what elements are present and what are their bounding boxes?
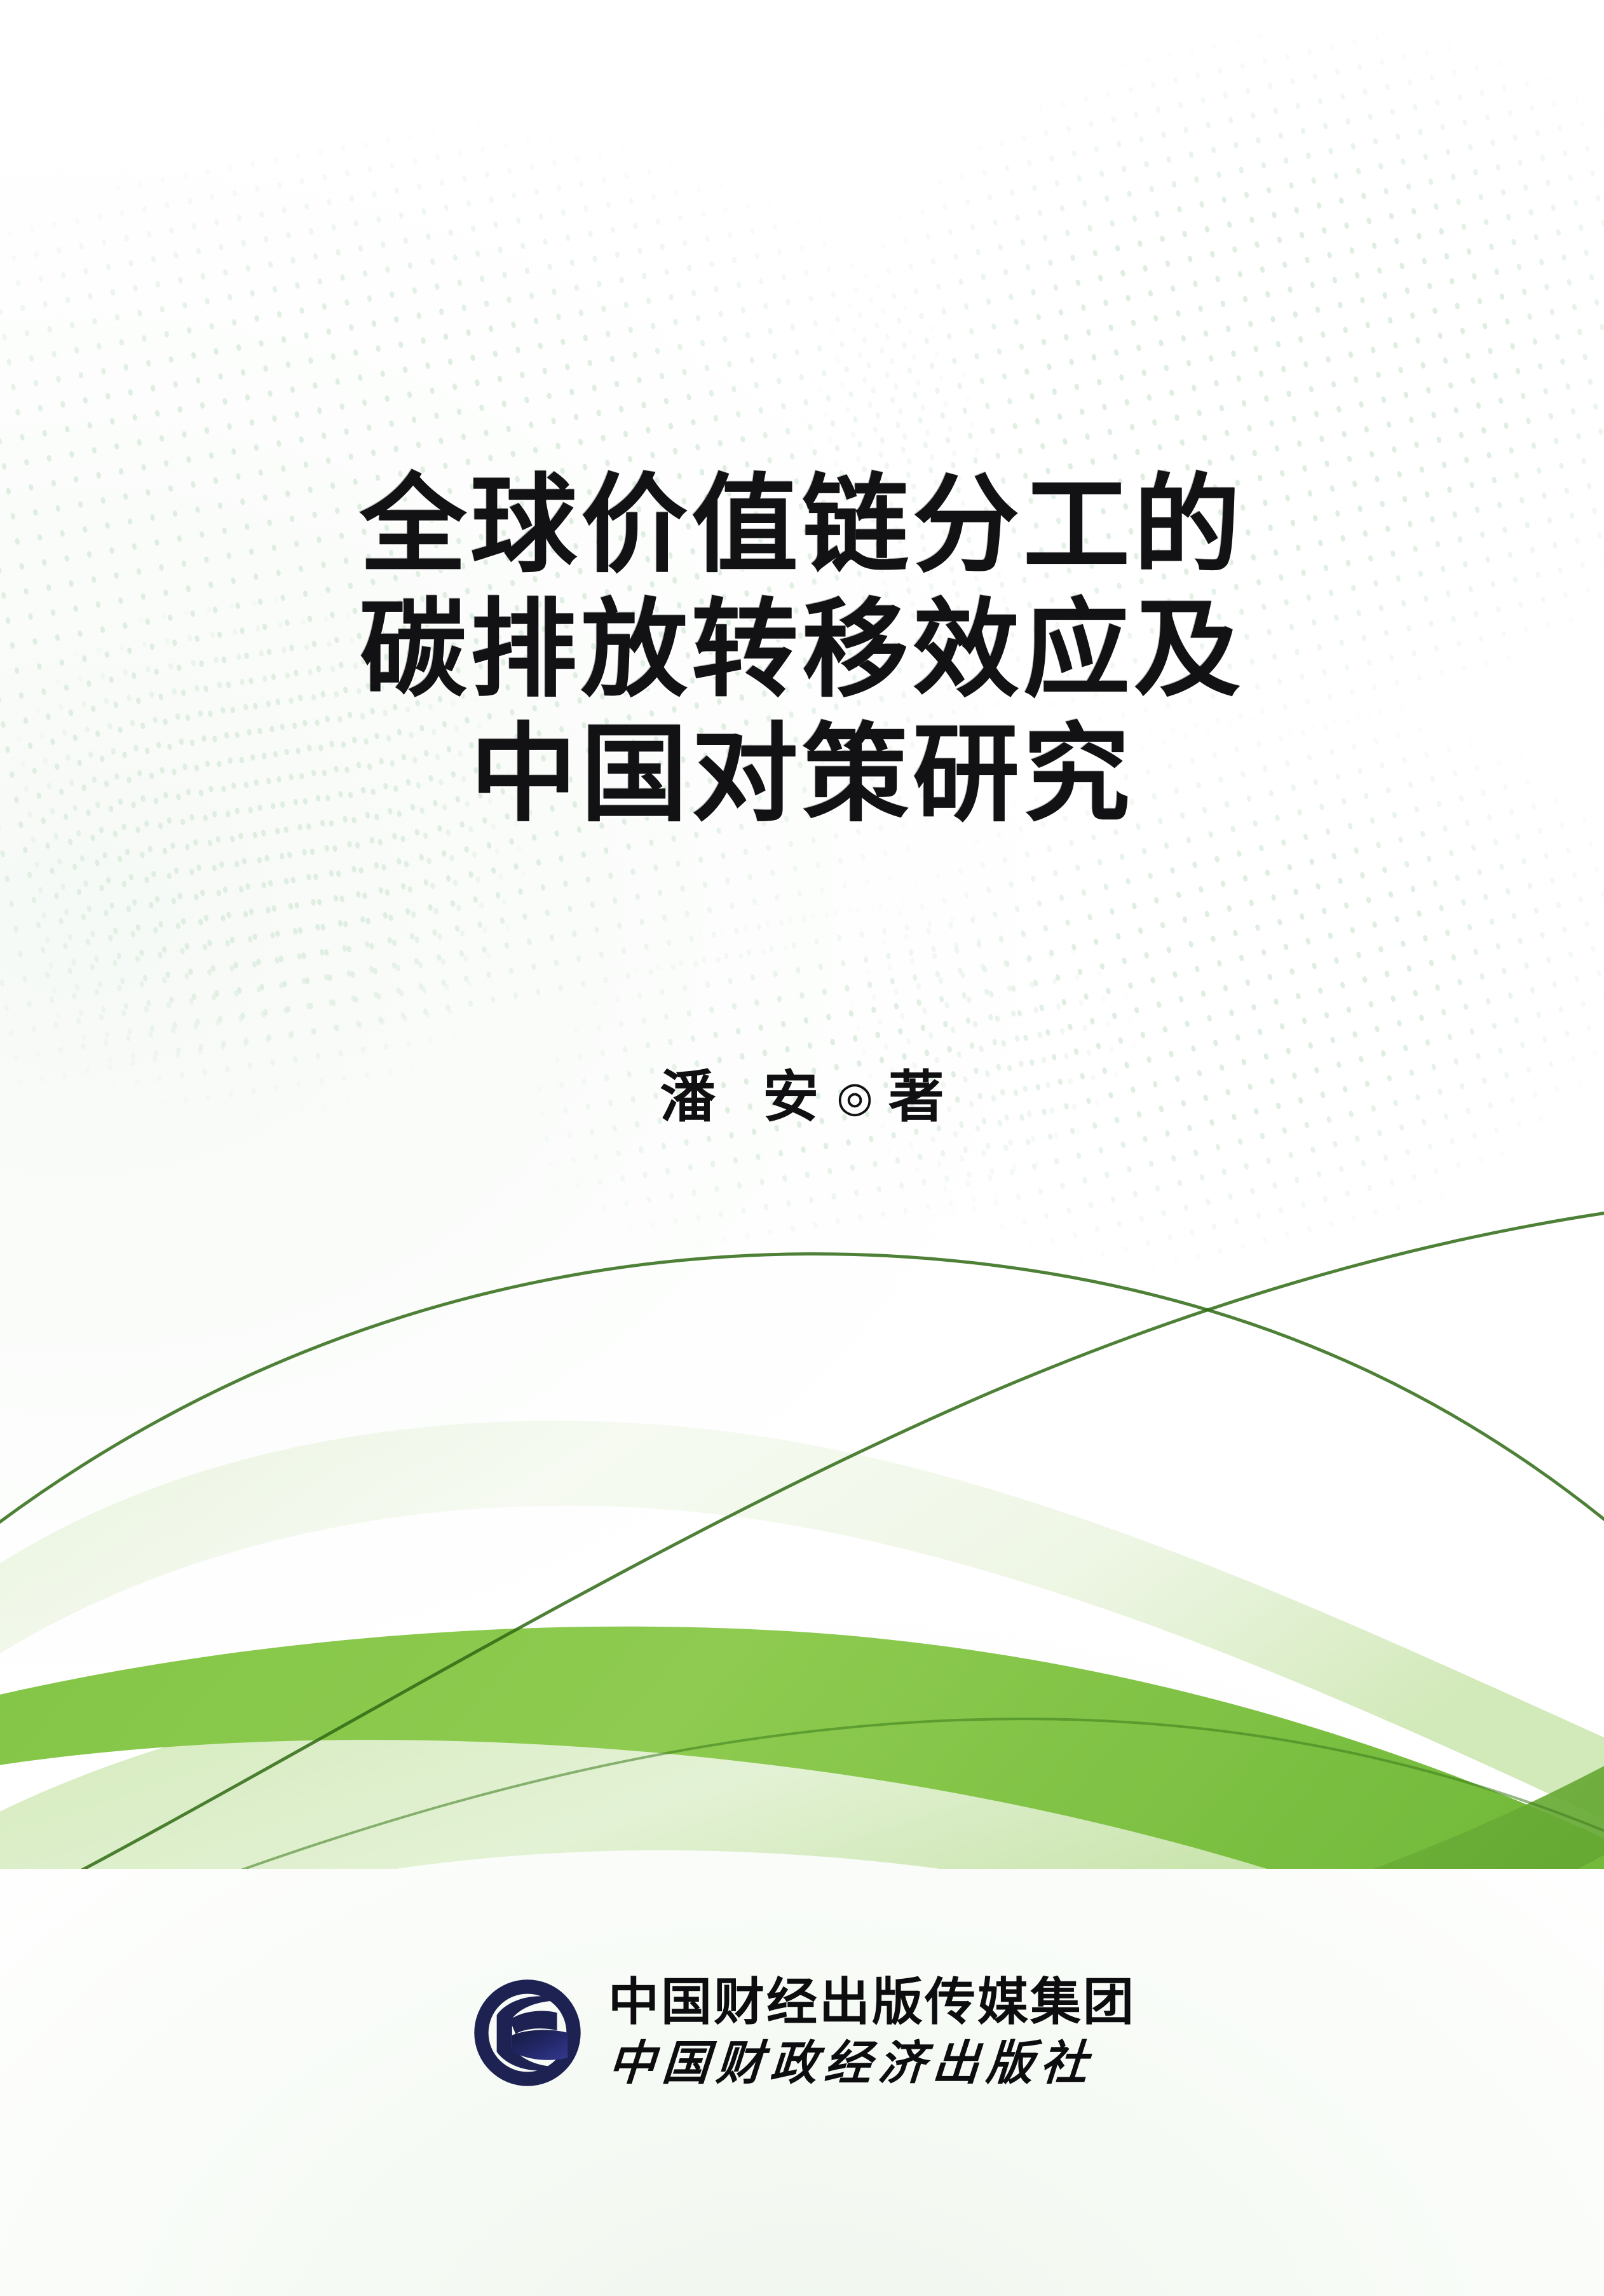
title-line-3: 中国对策研究 — [0, 713, 1604, 838]
author-name: 潘 安 — [660, 1067, 835, 1129]
publisher-names: 中国财经出版传媒集团 中国财政经济出版社 — [608, 1974, 1136, 2092]
publisher-group-name: 中国财经出版传媒集团 — [608, 1974, 1136, 2032]
title-line-1: 全球价值链分工的 — [0, 464, 1604, 589]
green-ribbon-artwork — [0, 1195, 1604, 1869]
book-title: 全球价值链分工的 碳排放转移效应及 中国对策研究 — [0, 464, 1604, 838]
author-credit: 潘 安◎著 — [0, 1052, 1604, 1133]
publisher-house-name: 中国财政经济出版社 — [606, 2036, 1138, 2092]
book-cover: 全球价值链分工的 碳排放转移效应及 中国对策研究 潘 安◎著 — [0, 0, 1604, 2296]
title-line-2: 碳排放转移效应及 — [0, 589, 1604, 713]
author-separator-icon: ◎ — [836, 1072, 873, 1121]
china-finance-press-logo-icon — [468, 1974, 587, 2092]
author-role: 著 — [888, 1067, 944, 1129]
publisher-block: 中国财经出版传媒集团 中国财政经济出版社 — [0, 1974, 1604, 2092]
